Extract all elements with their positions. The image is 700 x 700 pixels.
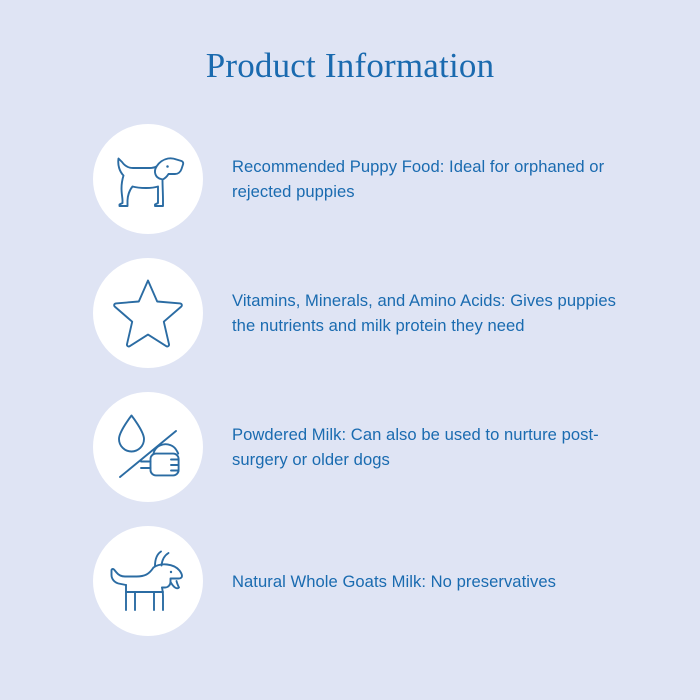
list-item: Powdered Milk: Can also be used to nurtu… <box>0 392 700 502</box>
feature-list: Recommended Puppy Food: Ideal for orphan… <box>0 124 700 636</box>
no-water-scoop-icon <box>110 411 186 483</box>
product-information-panel: Product Information Recommended Puppy Fo… <box>0 0 700 700</box>
page-title: Product Information <box>0 46 700 86</box>
dog-icon <box>110 148 186 210</box>
list-item: Recommended Puppy Food: Ideal for orphan… <box>0 124 700 234</box>
star-icon <box>110 277 186 349</box>
feature-text: Natural Whole Goats Milk: No preservativ… <box>232 526 624 636</box>
feature-text: Recommended Puppy Food: Ideal for orphan… <box>232 124 624 234</box>
list-item: Vitamins, Minerals, and Amino Acids: Giv… <box>0 258 700 368</box>
feature-text: Powdered Milk: Can also be used to nurtu… <box>232 392 624 502</box>
icon-badge <box>93 526 203 636</box>
list-item: Natural Whole Goats Milk: No preservativ… <box>0 526 700 636</box>
goat-icon <box>108 548 188 614</box>
icon-badge <box>93 124 203 234</box>
icon-badge <box>93 258 203 368</box>
icon-badge <box>93 392 203 502</box>
feature-text: Vitamins, Minerals, and Amino Acids: Giv… <box>232 258 624 368</box>
